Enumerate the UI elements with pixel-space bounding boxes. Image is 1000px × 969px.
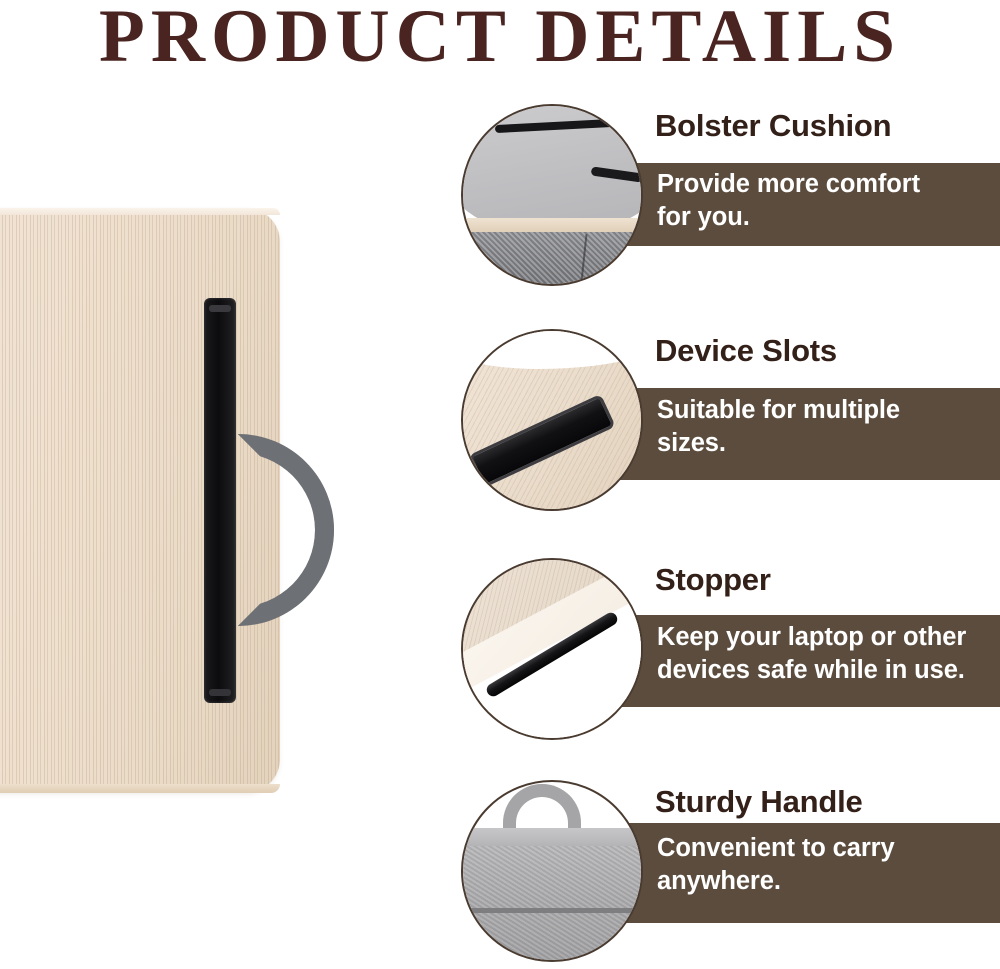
feature-heading: Bolster Cushion bbox=[655, 108, 891, 144]
cushion-fabric bbox=[461, 232, 643, 286]
feature-description: Convenient to carry anywhere. bbox=[657, 832, 987, 898]
feature-description-line: Keep your laptop or other bbox=[657, 621, 1000, 654]
cushion-seam bbox=[461, 908, 643, 913]
feature-description: Provide more comfort for you. bbox=[657, 168, 987, 234]
feature-heading: Sturdy Handle bbox=[655, 784, 863, 820]
stopper-photo bbox=[461, 558, 643, 740]
device-slot-groove bbox=[204, 298, 236, 703]
feature-description-line: anywhere. bbox=[657, 865, 987, 898]
desk-bottom-edge bbox=[0, 784, 280, 793]
carry-handle-strap bbox=[252, 434, 348, 626]
desk-top-edge bbox=[0, 208, 280, 215]
feature-description-line: devices safe while in use. bbox=[657, 654, 1000, 687]
feature-description-line: for you. bbox=[657, 201, 987, 234]
page-title: PRODUCT DETAILS bbox=[0, 0, 1000, 78]
feature-description: Keep your laptop or other devices safe w… bbox=[657, 621, 1000, 687]
bolster-cushion-photo bbox=[461, 104, 643, 286]
strap-texture bbox=[238, 434, 334, 626]
feature-description: Suitable for multiple sizes. bbox=[657, 394, 987, 460]
device-slot-photo bbox=[461, 329, 643, 511]
feature-description-line: Suitable for multiple bbox=[657, 394, 987, 427]
cushion-body bbox=[461, 828, 643, 962]
product-details-infographic: PRODUCT DETAILS Bolster Cushion bbox=[0, 0, 1000, 969]
feature-heading: Device Slots bbox=[655, 333, 837, 369]
feature-description-line: sizes. bbox=[657, 427, 987, 460]
feature-description-line: Convenient to carry bbox=[657, 832, 987, 865]
hero-product-photo bbox=[0, 208, 280, 793]
feature-heading: Stopper bbox=[655, 562, 771, 598]
cushion-top-edge bbox=[461, 828, 643, 846]
sturdy-handle-photo bbox=[461, 780, 643, 962]
feature-description-line: Provide more comfort bbox=[657, 168, 987, 201]
